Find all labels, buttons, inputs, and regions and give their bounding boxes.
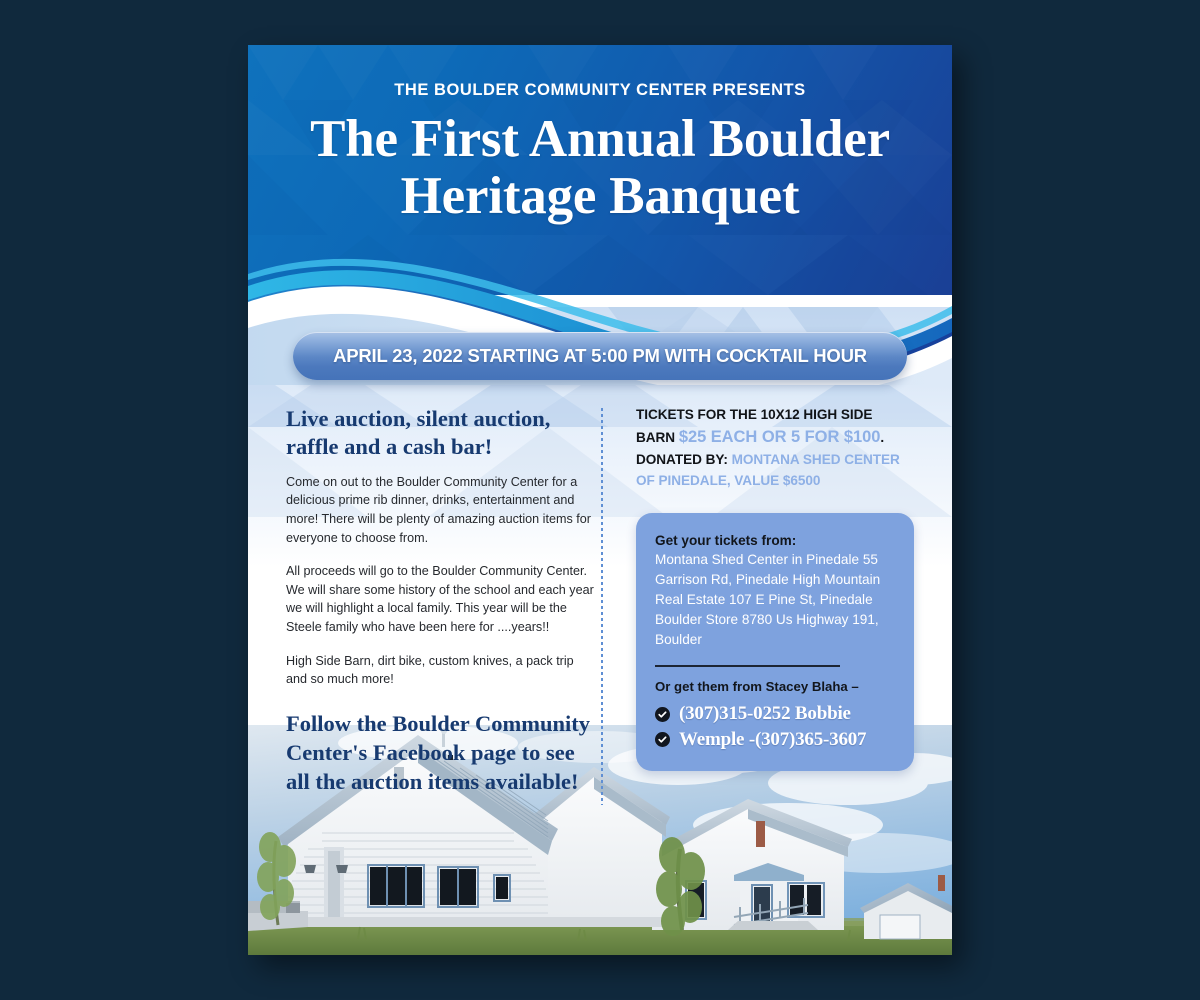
paragraph-3: High Side Barn, dirt bike, custom knives… — [286, 652, 596, 689]
tickets-label-1: TICKETS FOR THE 10X12 HIGH SIDE — [636, 407, 872, 422]
contact-row: Wemple -(307)365-3607 — [655, 728, 895, 751]
contact-phone-2[interactable]: Wemple -(307)365-3607 — [679, 728, 866, 751]
facebook-follow-heading: Follow the Boulder Community Center's Fa… — [286, 709, 596, 797]
ticket-box-heading: Get your tickets from: — [655, 533, 895, 548]
date-banner-text: APRIL 23, 2022 STARTING AT 5:00 PM WITH … — [333, 345, 867, 367]
check-circle-icon — [655, 732, 670, 747]
title-line-2: Heritage Banquet — [248, 168, 952, 225]
check-circle-icon — [655, 707, 670, 722]
tickets-label-2: BARN — [636, 430, 675, 445]
ticket-outlets-box: Get your tickets from: Montana Shed Cent… — [636, 513, 914, 771]
title-line-1: The First Annual Boulder — [248, 111, 952, 168]
donated-value-1: MONTANA SHED CENTER — [732, 452, 900, 467]
tickets-price: $25 EACH OR 5 FOR $100 — [679, 428, 881, 446]
presents-line: THE BOULDER COMMUNITY CENTER PRESENTS — [248, 81, 952, 100]
paragraph-1: Come on out to the Boulder Community Cen… — [286, 473, 596, 548]
contact-phone-1[interactable]: (307)315-0252 Bobbie — [679, 702, 851, 725]
contact-row: (307)315-0252 Bobbie — [655, 702, 895, 725]
tickets-info: TICKETS FOR THE 10X12 HIGH SIDE BARN $25… — [636, 405, 914, 491]
flyer-page: THE BOULDER COMMUNITY CENTER PRESENTS Th… — [248, 45, 952, 955]
ticket-box-divider — [655, 665, 840, 667]
donated-value-2: OF PINEDALE, VALUE $6500 — [636, 473, 820, 488]
ticket-box-or-line: Or get them from Stacey Blaha – — [655, 679, 895, 694]
column-divider — [601, 408, 603, 805]
right-column: TICKETS FOR THE 10X12 HIGH SIDE BARN $25… — [636, 405, 914, 771]
flyer-header: THE BOULDER COMMUNITY CENTER PRESENTS Th… — [248, 45, 952, 295]
flyer-body: Live auction, silent auction, raffle and… — [248, 390, 952, 810]
paragraph-2: All proceeds will go to the Boulder Comm… — [286, 562, 596, 637]
ticket-box-address: Montana Shed Center in Pinedale 55 Garri… — [655, 550, 895, 651]
tickets-period: . — [880, 430, 884, 445]
date-banner: APRIL 23, 2022 STARTING AT 5:00 PM WITH … — [293, 332, 907, 380]
donated-label: DONATED BY: — [636, 452, 728, 467]
left-heading: Live auction, silent auction, raffle and… — [286, 405, 596, 462]
left-column: Live auction, silent auction, raffle and… — [286, 405, 596, 797]
